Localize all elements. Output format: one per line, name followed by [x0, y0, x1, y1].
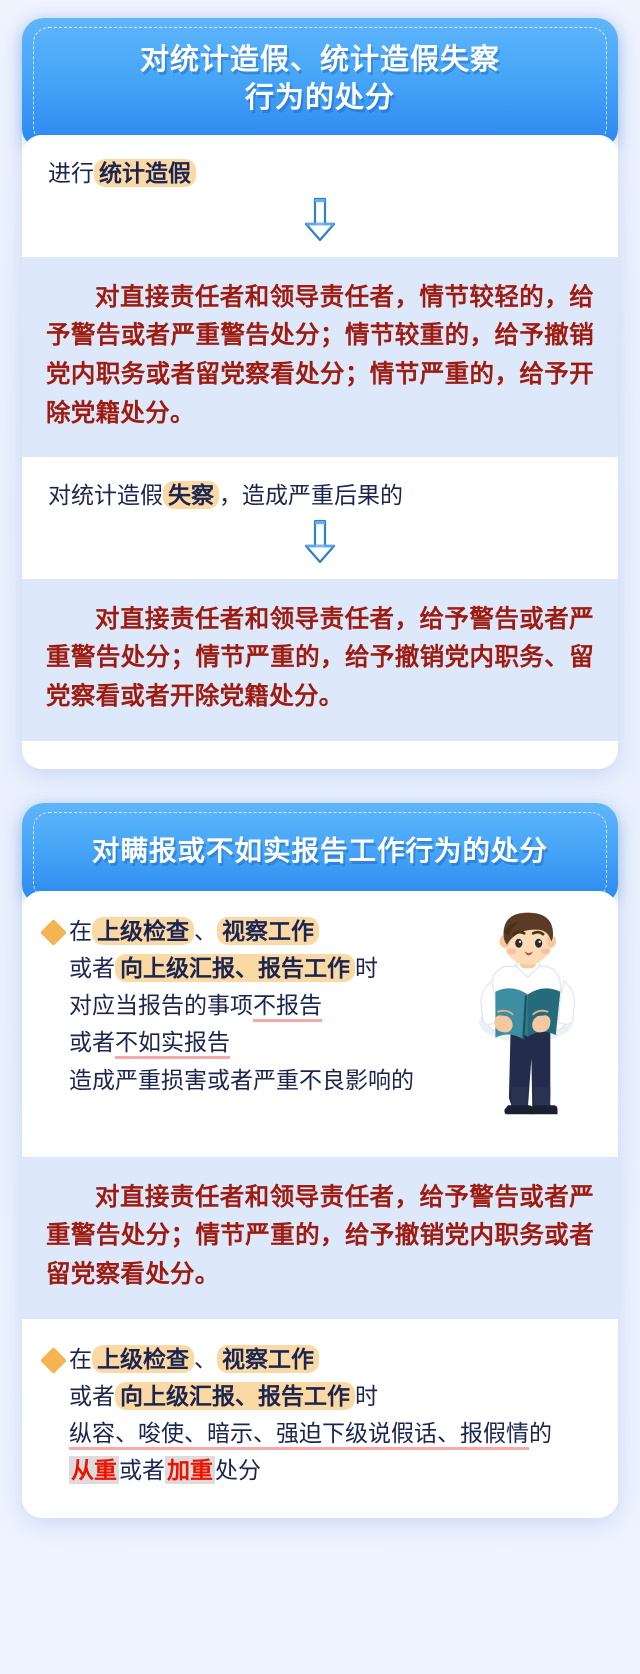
diamond-bullet-icon: [40, 919, 67, 946]
card2-bullet2-block: 在上级检查、视察工作 或者向上级汇报、报告工作时 纵容、唆使、暗示、强迫下级说假…: [22, 1319, 618, 1516]
card1-condition2-text: 对统计造假失察，造成严重后果的: [48, 477, 592, 514]
card2-bullet1-line3: 对应当报告的事项不报告: [69, 987, 463, 1024]
b2l1-pre: 在: [69, 1346, 92, 1372]
b2l4-hl2: 加重: [165, 1456, 215, 1484]
person-holding-book-illustration: [463, 909, 598, 1139]
card2-bullet1-text-col: 在上级检查、视察工作 或者向上级汇报、报告工作时 对应当报告的事项不报告 或者不…: [44, 913, 463, 1099]
card2-bullet1-lines: 在上级检查、视察工作 或者向上级汇报、报告工作时 对应当报告的事项不报告 或者不…: [69, 913, 463, 1099]
card2-header-banner: 对瞒报或不如实报告工作行为的处分: [22, 803, 618, 903]
card2-bullet1-line4: 或者不如实报告: [69, 1024, 463, 1061]
card1-penalty2-block: 对直接责任者和领导责任者，给予警告或者严重警告处分；情节严重的，给予撤销党内职务…: [22, 579, 618, 741]
b1l1-hl1: 上级检查: [92, 917, 194, 945]
card1-arrow2-wrap: [48, 515, 592, 569]
card1-header-banner: 对统计造假、统计造假失察 行为的处分: [22, 18, 618, 147]
card2-bullet2-lines: 在上级检查、视察工作 或者向上级汇报、报告工作时 纵容、唆使、暗示、强迫下级说假…: [69, 1341, 592, 1490]
card1-body: 进行统计造假 对直接责任者和领导责任者，情节较轻的，给予警告或者严重警告处分；情…: [22, 135, 618, 768]
card2-bullet1-block: 在上级检查、视察工作 或者向上级汇报、报告工作时 对应当报告的事项不报告 或者不…: [22, 891, 618, 1157]
card1-condition2-block: 对统计造假失察，造成严重后果的: [22, 457, 618, 578]
b2l4-hl1: 从重: [69, 1456, 119, 1484]
card2-bullet1-line2: 或者向上级汇报、报告工作时: [69, 950, 463, 987]
b1l3-pre: 对应当报告的事项: [69, 992, 253, 1018]
card2-title: 对瞒报或不如实报告工作行为的处分: [48, 833, 592, 869]
card2-bullet1: 在上级检查、视察工作 或者向上级汇报、报告工作时 对应当报告的事项不报告 或者不…: [44, 913, 463, 1099]
card2-bullet2-line2: 或者向上级汇报、报告工作时: [69, 1378, 592, 1415]
down-arrow-icon: [303, 519, 337, 565]
b1l4-underline: 不如实报告: [115, 1029, 230, 1059]
b2l4-mid: 或者: [119, 1457, 165, 1483]
b2l3-post: 的: [529, 1420, 552, 1446]
card-concealed-reporting: 对瞒报或不如实报告工作行为的处分 在上级检查、视察工作: [22, 803, 618, 1518]
card1-condition1-block: 进行统计造假: [22, 135, 618, 256]
card1-arrow1-wrap: [48, 193, 592, 247]
card2-body: 在上级检查、视察工作 或者向上级汇报、报告工作时 对应当报告的事项不报告 或者不…: [22, 891, 618, 1518]
card2-bullet1-row: 在上级检查、视察工作 或者向上级汇报、报告工作时 对应当报告的事项不报告 或者不…: [44, 913, 592, 1139]
diamond-bullet-icon: [40, 1347, 67, 1374]
card2-bullet2: 在上级检查、视察工作 或者向上级汇报、报告工作时 纵容、唆使、暗示、强迫下级说假…: [44, 1341, 592, 1490]
card2-bullet2-line1: 在上级检查、视察工作: [69, 1341, 592, 1378]
b1l1-hl2: 视察工作: [217, 917, 319, 945]
b2l1-hl1: 上级检查: [92, 1345, 194, 1373]
card1-penalty1-block: 对直接责任者和领导责任者，情节较轻的，给予警告或者严重警告处分；情节较重的，给予…: [22, 257, 618, 458]
card2-penalty-text: 对直接责任者和领导责任者，给予警告或者严重警告处分；情节严重的，给予撤销党内职务…: [46, 1179, 594, 1295]
b1l3-underline: 不报告: [253, 992, 322, 1022]
infographic-page: 对统计造假、统计造假失察 行为的处分 进行统计造假 对直接责任者和领导责任: [0, 0, 640, 1544]
b1l2-hl1: 向上级汇报、报告工作: [115, 954, 355, 982]
card-statistical-fraud: 对统计造假、统计造假失察 行为的处分 进行统计造假 对直接责任者和领导责任: [22, 18, 618, 769]
card1-penalty2-text: 对直接责任者和领导责任者，给予警告或者严重警告处分；情节严重的，给予撤销党内职务…: [46, 601, 594, 717]
b2l4-post: 处分: [215, 1457, 261, 1483]
b1l2-post: 时: [355, 955, 378, 981]
card1-condition1-pre: 进行: [48, 160, 94, 186]
b2l2-pre: 或者: [69, 1383, 115, 1409]
b1l1-mid: 、: [194, 918, 217, 944]
card1-title: 对统计造假、统计造假失察 行为的处分: [48, 42, 592, 117]
card2-bullet2-line3: 纵容、唆使、暗示、强迫下级说假话、报假情的: [69, 1415, 592, 1452]
card1-condition2-pre: 对统计造假: [48, 482, 163, 508]
person-illustration-svg: [463, 909, 598, 1134]
b1l1-pre: 在: [69, 918, 92, 944]
b2l2-post: 时: [355, 1383, 378, 1409]
card2-bullet1-line1: 在上级检查、视察工作: [69, 913, 463, 950]
card2-bullet1-line5: 造成严重损害或者严重不良影响的: [69, 1062, 463, 1099]
card1-bottom-spacer: [22, 741, 618, 767]
card2-penalty-block: 对直接责任者和领导责任者，给予警告或者严重警告处分；情节严重的，给予撤销党内职务…: [22, 1157, 618, 1319]
card1-condition2-highlight: 失察: [163, 481, 219, 509]
b2l1-hl2: 视察工作: [217, 1345, 319, 1373]
b1l4-pre: 或者: [69, 1029, 115, 1055]
b2l2-hl1: 向上级汇报、报告工作: [115, 1382, 355, 1410]
card1-condition1-highlight: 统计造假: [94, 159, 196, 187]
b2l1-mid: 、: [194, 1346, 217, 1372]
card1-condition2-post: ，造成严重后果的: [219, 482, 403, 508]
b1l2-pre: 或者: [69, 955, 115, 981]
card1-condition1-text: 进行统计造假: [48, 155, 592, 192]
card2-bullet2-line4: 从重或者加重处分: [69, 1452, 592, 1489]
down-arrow-icon: [303, 197, 337, 243]
b2l3-underline: 纵容、唆使、暗示、强迫下级说假话、报假情: [69, 1420, 529, 1450]
card1-penalty1-text: 对直接责任者和领导责任者，情节较轻的，给予警告或者严重警告处分；情节较重的，给予…: [46, 279, 594, 434]
